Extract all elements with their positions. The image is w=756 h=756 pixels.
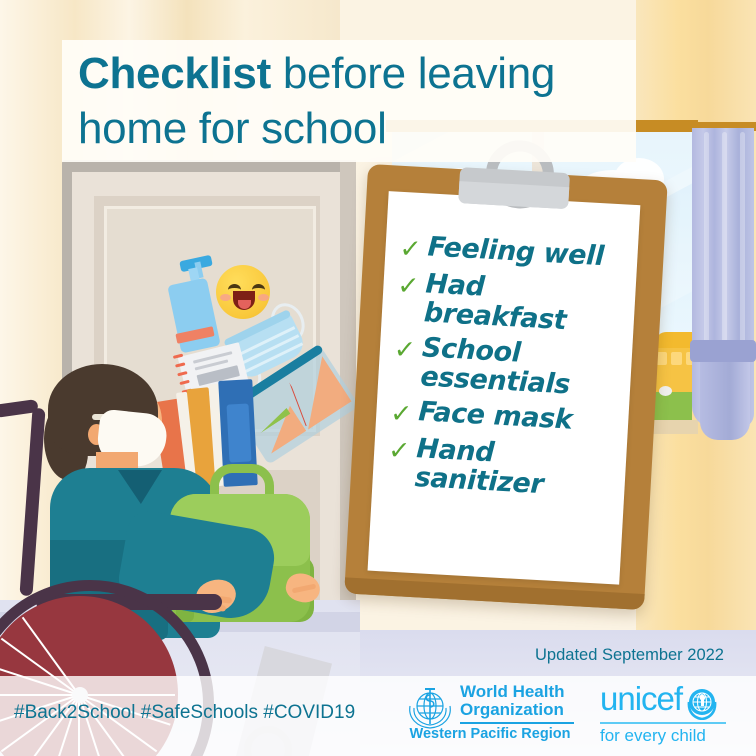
checklist-item-label: Had breakfast [423, 270, 634, 339]
checkmark-icon: ✓ [390, 397, 420, 429]
checklist: ✓ Feeling well ✓ Had breakfast ✓ School … [386, 232, 637, 511]
who-logo: World Health Organization Western Pacifi… [404, 684, 576, 746]
hashtags: #Back2School #SafeSchools #COVID19 [14, 702, 355, 724]
checklist-item[interactable]: ✓ School essentials [392, 333, 631, 403]
unicef-tagline: for every child [600, 726, 706, 746]
unicef-divider [600, 722, 726, 724]
who-name-line2: Organization [460, 701, 565, 719]
checklist-item-label: Face mask [418, 399, 573, 436]
smiley-cheek [220, 294, 231, 301]
updated-date: Updated September 2022 [535, 646, 724, 665]
checklist-item-label: Feeling well [427, 233, 605, 271]
unicef-emblem-svg [685, 686, 719, 720]
clipboard: ✓ Feeling well ✓ Had breakfast ✓ School … [344, 164, 668, 610]
who-region: Western Pacific Region [404, 726, 576, 742]
checklist-item[interactable]: ✓ Hand sanitizer [386, 434, 625, 504]
notebook-ring [173, 354, 183, 359]
book-cover-detail [226, 403, 251, 462]
who-name: World Health Organization [460, 683, 565, 718]
checkmark-icon: ✓ [397, 269, 427, 301]
who-emblem-icon [404, 686, 456, 730]
checklist-item[interactable]: ✓ Had breakfast [395, 269, 634, 339]
school-bus-wheel [659, 386, 672, 396]
unicef-emblem-icon [685, 686, 719, 720]
title-line-2: home for school [78, 104, 387, 153]
unicef-logo: unicef for every child [600, 684, 742, 746]
checkmark-icon: ✓ [388, 434, 418, 466]
checkmark-icon: ✓ [399, 232, 429, 264]
checkmark-icon: ✓ [393, 333, 423, 365]
curtain-tail [700, 358, 750, 440]
title-rest: before leaving [271, 49, 555, 98]
curtain-tieback [690, 340, 756, 362]
checklist-item-label: School essentials [420, 334, 573, 400]
who-name-line1: World Health [460, 683, 565, 701]
infographic-poster: ✓ Feeling well ✓ Had breakfast ✓ School … [0, 0, 756, 756]
page-title: Checklist before leaving home for school [78, 47, 638, 156]
title-bold-word: Checklist [78, 49, 271, 98]
who-emblem-svg [404, 686, 456, 730]
smiley-cheek [258, 294, 269, 301]
checklist-item-label: Hand sanitizer [414, 436, 543, 500]
unicef-wordmark: unicef [600, 680, 682, 718]
notebook-ring [179, 380, 189, 385]
notebook-ring [177, 371, 187, 376]
who-divider [460, 722, 574, 724]
school-bus-window [671, 352, 682, 365]
notebook-ring [175, 362, 185, 367]
